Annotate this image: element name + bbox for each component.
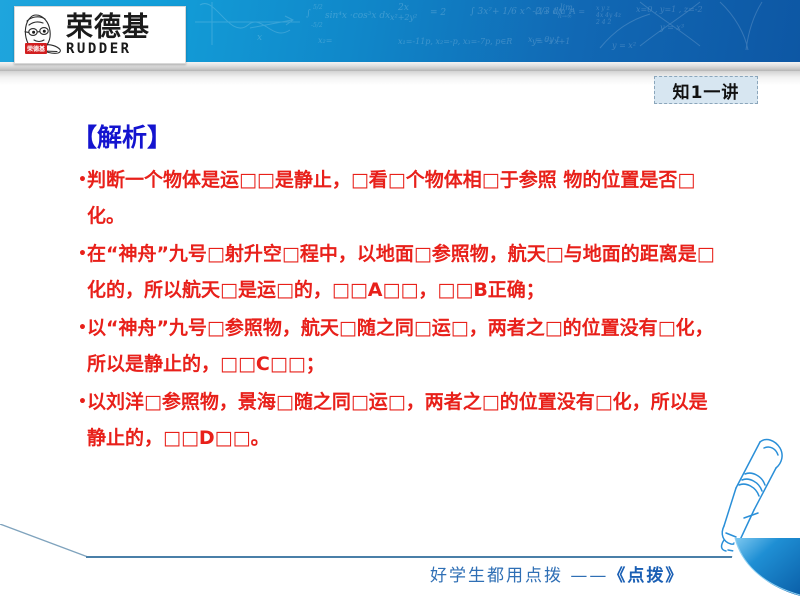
- svg-text:x=0 , y=1 , z=-2: x=0 , y=1 , z=-2: [636, 5, 703, 14]
- list-item-text: 以刘洋□参照物，景海□随之同□运□，两者之□的位置没有□化，所以是静止的，□□D…: [87, 391, 708, 449]
- svg-text:(1+ 1/n )ⁿ: (1+ 1/n )ⁿ: [535, 7, 574, 16]
- bullet-icon: •: [78, 172, 87, 188]
- slide-content: 【解析】 •判断一个物体是运□□是静止，□看□个物体相□于参照 物的位置是否□化…: [0, 100, 800, 570]
- svg-text:= 2: = 2: [430, 8, 446, 18]
- svg-text:-5/2: -5/2: [311, 22, 323, 29]
- logo-english-name: RUDDER: [66, 42, 150, 56]
- svg-text:A =: A =: [569, 7, 585, 16]
- svg-text:4x 4y 4z: 4x 4y 4z: [595, 12, 622, 19]
- svg-text:y = x²: y = x²: [611, 41, 636, 50]
- list-item: •以“神舟”九号□参照物，航天□随之同□运□，两者之□的位置没有□化，所以是静止…: [78, 310, 718, 382]
- svg-text:x: x: [257, 33, 262, 43]
- logo-chinese-name: 荣德基: [66, 14, 150, 41]
- list-item: •以刘洋□参照物，景海□随之同□运□，两者之□的位置没有□化，所以是静止的，□□…: [78, 384, 718, 456]
- page-corner-fold-icon: [675, 538, 800, 600]
- analysis-list: •判断一个物体是运□□是静止，□看□个物体相□于参照 物的位置是否□化。 •在“…: [78, 162, 718, 456]
- bullet-icon: •: [78, 394, 87, 410]
- footer-slogan: 好学生都用点拨 ——《点拨》: [430, 561, 684, 586]
- bullet-icon: •: [78, 320, 87, 336]
- lesson-tag-label: 知1一讲: [673, 78, 740, 103]
- list-item-text: 判断一个物体是运□□是静止，□看□个物体相□于参照 物的位置是否□化。: [87, 169, 695, 227]
- svg-text:x = 0y t: x = 0y t: [528, 35, 560, 44]
- svg-text:x₁=-11p, x₂=-p, x₃=-7p, p∈R: x₁=-11p, x₂=-p, x₃=-7p, p∈R: [398, 37, 512, 46]
- list-item: •在“神舟”九号□射升空□程中，以地面□参照物，航天□与地面的距离是□化的，所以…: [78, 236, 718, 308]
- svg-text:5/2: 5/2: [313, 4, 323, 11]
- brand-logo: 荣德基 RUDDER 荣德基: [14, 6, 186, 64]
- svg-text:2 4 2: 2 4 2: [595, 19, 611, 26]
- footer-diagonal-line: [0, 524, 90, 558]
- list-item: •判断一个物体是运□□是静止，□看□个物体相□于参照 物的位置是否□化。: [78, 162, 718, 234]
- bullet-icon: •: [78, 246, 87, 262]
- list-item-text: 以“神舟”九号□参照物，航天□随之同□运□，两者之□的位置没有□化，所以是静止的…: [87, 317, 714, 375]
- svg-text:x y z: x y z: [596, 5, 611, 12]
- svg-text:sin⁴x ·cos³x dx: sin⁴x ·cos³x dx: [325, 11, 390, 21]
- footer-brand: 《点拨》: [608, 566, 684, 586]
- list-item-text: 在“神舟”九号□射升空□程中，以地面□参照物，航天□与地面的距离是□化的，所以航…: [87, 243, 715, 301]
- svg-text:x²+2y²: x²+2y²: [390, 13, 417, 22]
- svg-text:2x: 2x: [397, 3, 409, 13]
- page-title: 【解析】: [72, 118, 172, 154]
- footer-slogan-text: 好学生都用点拨 ——: [430, 566, 608, 586]
- svg-text:∫: ∫: [306, 9, 311, 19]
- svg-text:x₂=: x₂=: [318, 36, 332, 45]
- logo-badge: 荣德基: [25, 43, 47, 54]
- svg-text:y = x³: y = x³: [659, 23, 684, 32]
